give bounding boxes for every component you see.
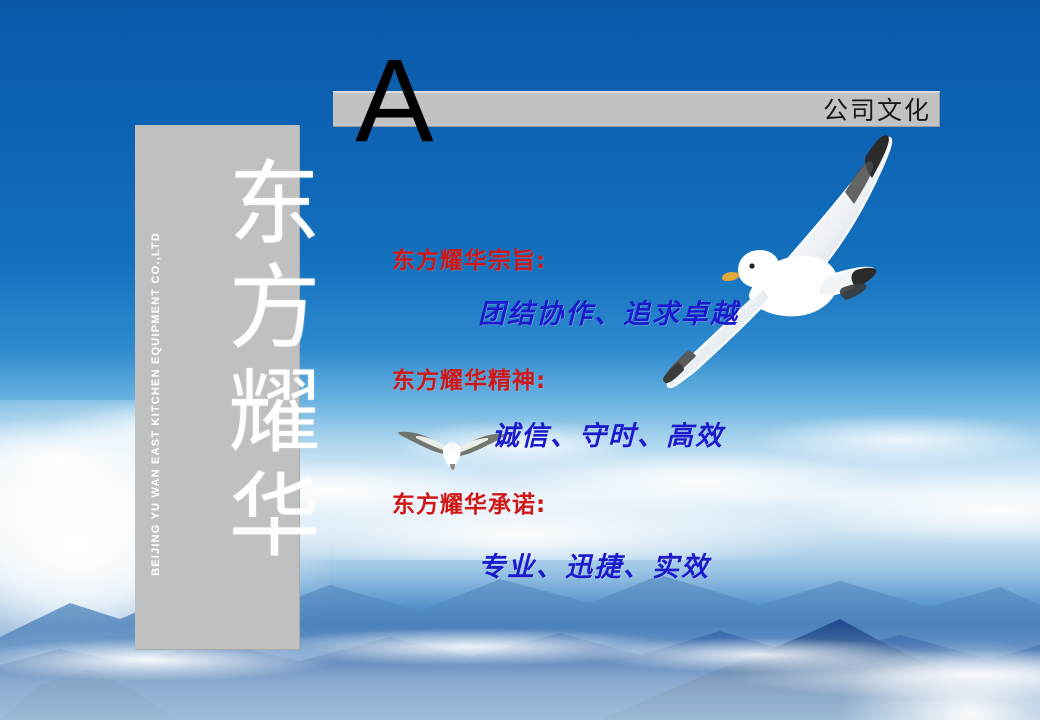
content-area: 东方耀华宗旨: 团结协作、追求卓越 东方耀华精神: 诚信、守时、高效 东方耀华承… (0, 0, 1040, 720)
spirit-value: 诚信、守时、高效 (492, 414, 724, 453)
promise-heading: 东方耀华承诺: (392, 485, 546, 519)
purpose-heading: 东方耀华宗旨: (392, 241, 546, 275)
purpose-value: 团结协作、追求卓越 (478, 292, 739, 331)
promise-value-wrap: 专业、迅捷、实效 (478, 545, 710, 584)
content-block-promise: 东方耀华承诺: (392, 485, 546, 519)
spirit-value-wrap: 诚信、守时、高效 (492, 414, 724, 453)
content-block-spirit: 东方耀华精神: (392, 361, 546, 395)
promise-value: 专业、迅捷、实效 (478, 545, 710, 584)
content-block-purpose: 东方耀华宗旨: (392, 241, 546, 275)
spirit-heading: 东方耀华精神: (392, 361, 546, 395)
purpose-value-wrap: 团结协作、追求卓越 (478, 292, 739, 331)
slide-canvas: BEIJING YU WAN EAST KITCHEN EQUIPMENT CO… (0, 0, 1040, 720)
